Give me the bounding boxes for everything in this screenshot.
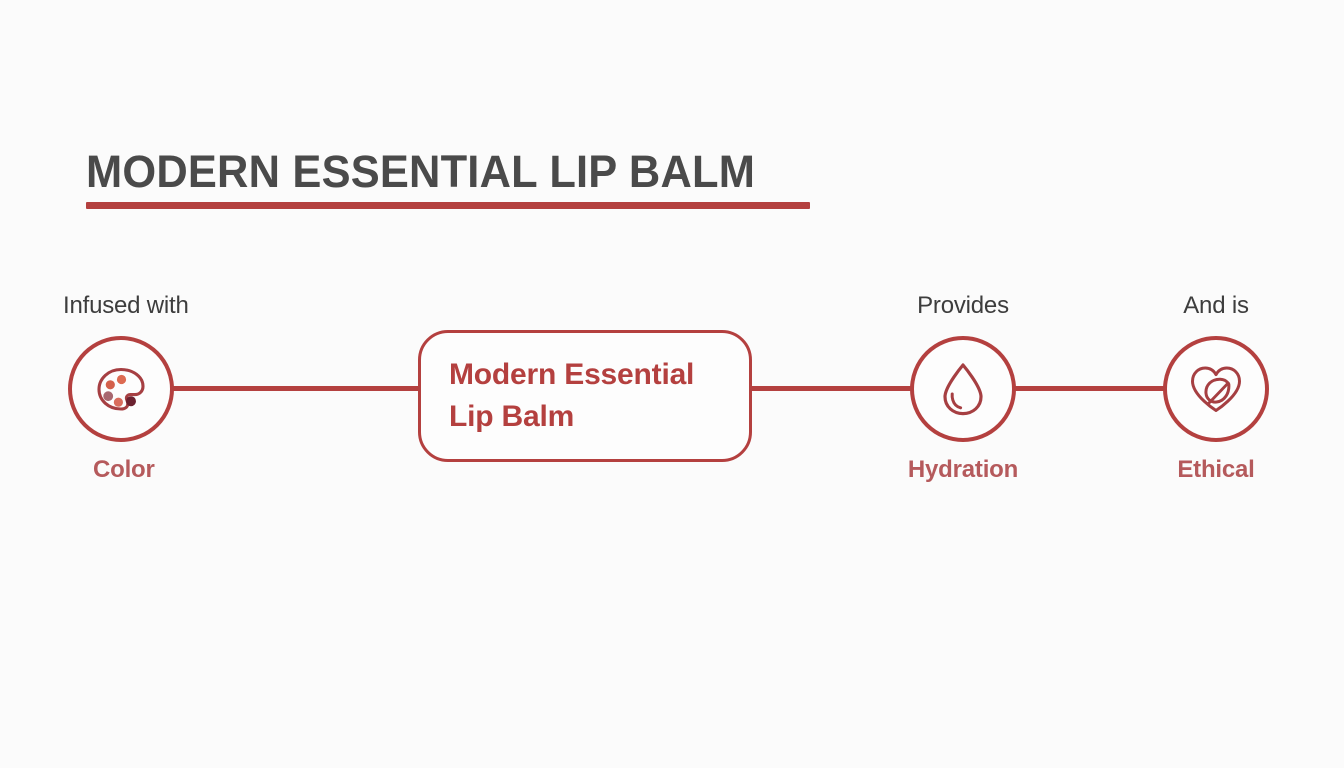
process-diagram: Infused with Color Modern Essential Lip [0, 0, 1344, 768]
connector-center-to-hydration [750, 386, 914, 391]
connector-color-to-center [170, 386, 422, 391]
center-product-label: Modern Essential Lip Balm [449, 354, 749, 438]
water-droplet-icon [935, 358, 991, 420]
node-color[interactable]: Infused with Color [68, 336, 174, 442]
node-hydration[interactable]: Provides Hydration [910, 336, 1016, 442]
node-ethical-top-label: And is [1183, 292, 1249, 320]
node-color-top-label: Infused with [63, 292, 189, 320]
node-color-circle[interactable] [68, 336, 174, 442]
node-hydration-top-label: Provides [917, 292, 1009, 320]
center-product-card[interactable]: Modern Essential Lip Balm [418, 330, 752, 462]
node-ethical[interactable]: And is Ethical [1163, 336, 1269, 442]
infographic-canvas: MODERN ESSENTIAL LIP BALM Infused with [0, 0, 1344, 768]
node-color-bottom-label: Color [93, 456, 155, 484]
heart-leaf-icon [1183, 358, 1249, 420]
node-hydration-circle[interactable] [910, 336, 1016, 442]
node-hydration-bottom-label: Hydration [908, 456, 1018, 484]
node-ethical-bottom-label: Ethical [1177, 456, 1254, 484]
connector-hydration-to-ethical [1012, 386, 1168, 391]
node-ethical-circle[interactable] [1163, 336, 1269, 442]
palette-icon [90, 358, 152, 420]
